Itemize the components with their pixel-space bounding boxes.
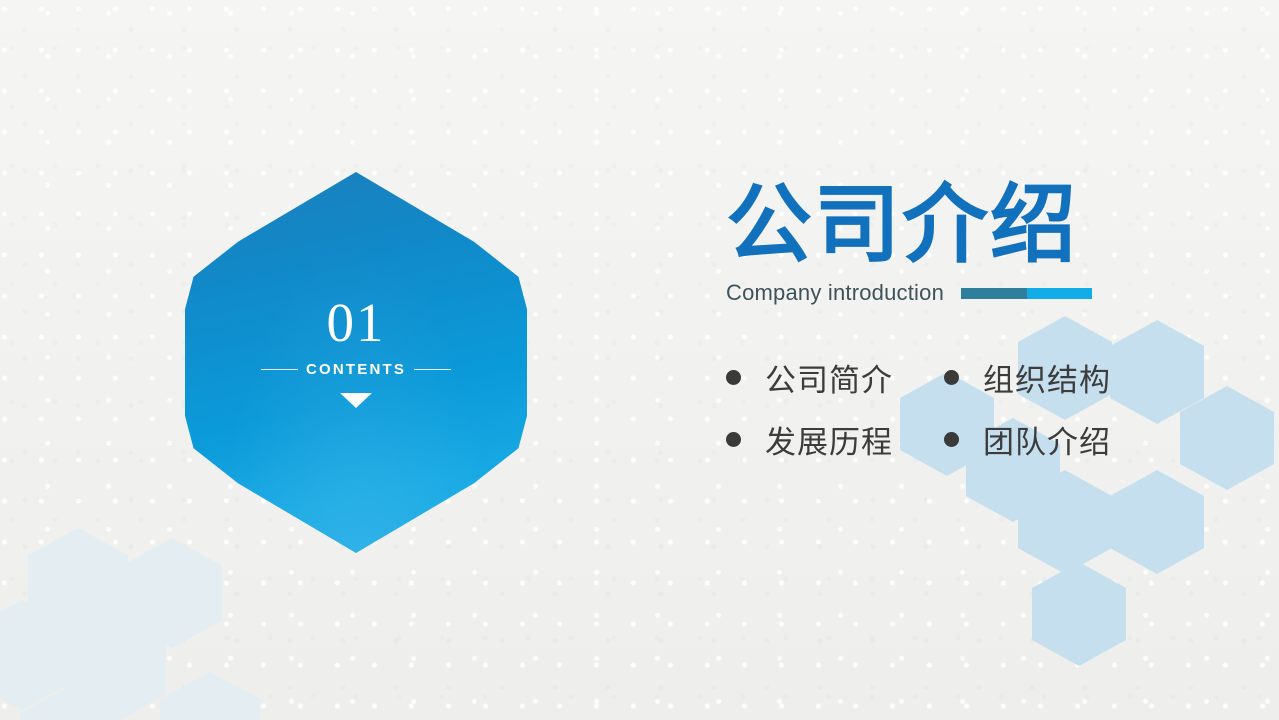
bullet-dot-icon	[726, 370, 741, 385]
bullet-dot-icon	[726, 432, 741, 447]
section-number-hexagon[interactable]: 01 CONTENTS	[185, 172, 527, 553]
rule-left	[261, 369, 298, 370]
decorative-hexagon	[122, 538, 222, 648]
page-title: 公司介绍	[726, 180, 1246, 271]
decorative-hexagon	[28, 528, 128, 638]
decorative-hexagon	[20, 686, 120, 720]
rule-right	[414, 369, 451, 370]
presentation-slide: 01 CONTENTS 公司介绍 Company introduction 公司…	[0, 0, 1279, 720]
bullet-dot-icon	[944, 432, 959, 447]
contents-list: 公司简介 组织结构 发展历程 团队介绍	[726, 355, 1246, 462]
section-number: 01	[327, 295, 386, 350]
list-item[interactable]: 发展历程	[726, 417, 944, 462]
decorative-hexagon	[160, 672, 260, 720]
accent-bar-light-segment	[1027, 288, 1093, 299]
contents-label-row: CONTENTS	[261, 361, 451, 378]
list-item[interactable]: 公司简介	[726, 355, 944, 400]
contents-label: CONTENTS	[306, 361, 406, 378]
page-subtitle: Company introduction	[726, 280, 944, 306]
list-item-label: 团队介绍	[983, 417, 1111, 462]
decorative-hexagon	[1110, 470, 1204, 574]
decorative-hexagon	[66, 612, 166, 720]
list-item-label: 组织结构	[983, 355, 1111, 400]
list-item[interactable]: 组织结构	[944, 355, 1162, 400]
subtitle-row: Company introduction	[726, 280, 1246, 306]
hexagon-content: 01 CONTENTS	[185, 172, 527, 553]
accent-bar	[961, 288, 1092, 299]
title-block: 公司介绍 Company introduction 公司简介 组织结构 发展历程	[726, 180, 1246, 462]
decorative-hexagon	[1032, 562, 1126, 666]
decorative-hexagon	[0, 600, 72, 710]
list-item-label: 公司简介	[765, 355, 893, 400]
accent-bar-dark-segment	[961, 288, 1027, 299]
decorative-hexagon	[1018, 470, 1112, 574]
list-item[interactable]: 团队介绍	[944, 417, 1162, 462]
bullet-dot-icon	[944, 370, 959, 385]
triangle-down-icon	[340, 393, 372, 408]
list-item-label: 发展历程	[765, 417, 893, 462]
